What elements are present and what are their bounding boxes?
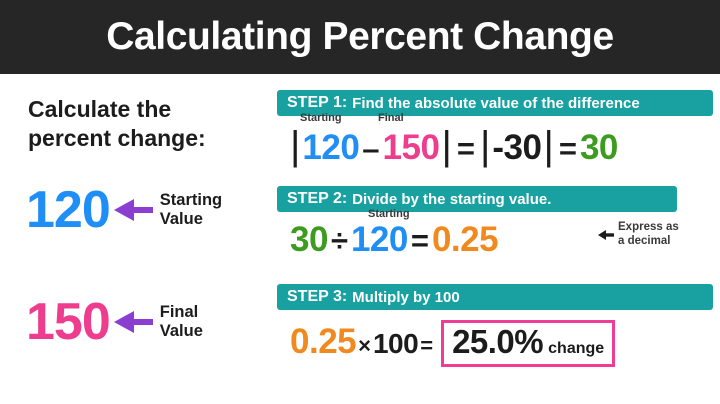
eq3-hundred: 100: [373, 330, 418, 358]
eq2-divide-operator: ÷: [328, 225, 351, 256]
step-3-equation: 0.25 × 100 = 25.0% change: [290, 320, 615, 367]
left-panel: Calculate the percent change: 120 Starti…: [0, 74, 268, 404]
answer-box: 25.0% change: [441, 320, 615, 367]
step-1-header: STEP 1: Find the absolute value of the d…: [277, 90, 713, 116]
starting-value-label: Starting Value: [160, 191, 222, 229]
express-as-decimal-text: Express as a decimal: [618, 221, 679, 249]
caption-starting-step1: Starting: [300, 112, 342, 124]
abs-pipe-close: |: [439, 126, 453, 166]
eq3-equals: =: [418, 333, 435, 359]
arrow-left-icon: [112, 309, 156, 335]
arrow-left-icon: [112, 197, 156, 223]
caption-starting-step2: Starting: [368, 208, 410, 220]
starting-value-row: 120 Starting Value: [26, 184, 222, 236]
step-3-header: STEP 3: Multiply by 100: [277, 284, 713, 310]
eq1-equals-2: =: [556, 133, 580, 164]
step-2-header: STEP 2: Divide by the starting value.: [277, 186, 677, 212]
starting-value-number: 120: [26, 184, 110, 236]
eq1-final: 150: [383, 130, 440, 165]
step-2-label: STEP 2:: [287, 190, 347, 208]
abs2-pipe-close: |: [541, 126, 555, 166]
abs2-pipe-open: |: [478, 126, 492, 166]
final-value-number: 150: [26, 296, 110, 348]
arrow-left-icon: [598, 229, 615, 241]
eq2-dividend: 30: [290, 222, 328, 257]
step-2-equation: 30 ÷ 120 = 0.25: [290, 222, 498, 257]
step-1-description: Find the absolute value of the differenc…: [352, 95, 640, 112]
right-panel: STEP 1: Find the absolute value of the d…: [268, 74, 720, 404]
step-1-equation: | 120 – 150 | = | -30 | = 30: [288, 126, 618, 166]
express-as-decimal-note: Express as a decimal: [598, 221, 679, 249]
step-3-description: Multiply by 100: [352, 289, 460, 306]
answer-suffix: change: [548, 340, 604, 358]
eq3-decimal: 0.25: [290, 324, 356, 359]
caption-final-step1: Final: [378, 112, 404, 124]
eq1-equals-1: =: [454, 133, 478, 164]
answer-value: 25.0%: [452, 325, 543, 360]
step-3-label: STEP 3:: [287, 288, 347, 306]
step-2-description: Divide by the starting value.: [352, 191, 551, 208]
eq1-minus-operator: –: [359, 133, 382, 164]
eq3-times-operator: ×: [356, 333, 373, 359]
final-value-row: 150 Final Value: [26, 296, 203, 348]
final-value-label: Final Value: [160, 303, 203, 341]
eq1-starting: 120: [302, 130, 359, 165]
abs-pipe-open: |: [288, 126, 302, 166]
eq2-equals: =: [408, 225, 432, 256]
eq1-result: 30: [580, 130, 618, 165]
prompt-text: Calculate the percent change:: [28, 95, 258, 152]
step-1-label: STEP 1:: [287, 94, 347, 112]
title-bar: Calculating Percent Change: [0, 0, 720, 74]
eq2-result: 0.25: [432, 222, 498, 257]
eq2-divisor: 120: [351, 222, 408, 257]
eq1-difference: -30: [492, 130, 541, 165]
page-title: Calculating Percent Change: [106, 15, 614, 59]
